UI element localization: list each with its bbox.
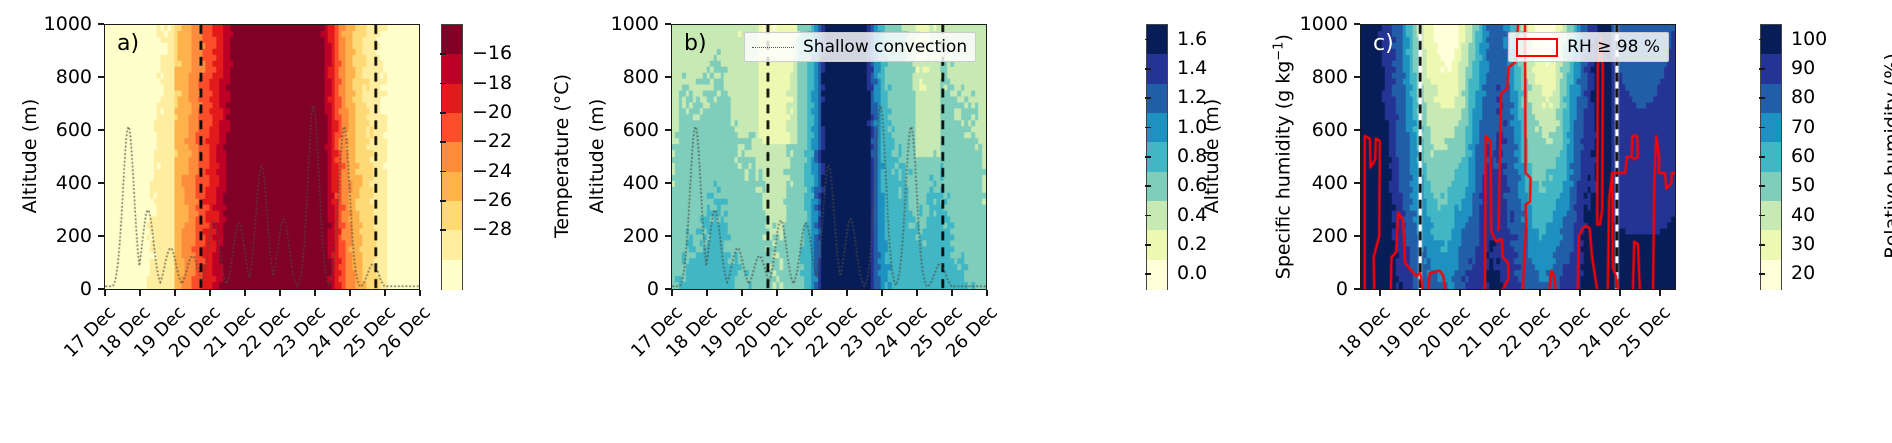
panel-b-xtickmark (706, 290, 708, 296)
colorbar-tickmark (440, 112, 446, 114)
panel-a-xtickmark (209, 290, 211, 296)
colorbar-segment (442, 201, 462, 231)
panel-a-colorbar-label: Temperature (°C) (551, 31, 573, 281)
panel-c-ytickmark (1354, 129, 1360, 131)
colorbar-tick-label: 50 (1791, 174, 1815, 196)
colorbar-tickmark (1145, 127, 1151, 129)
colorbar-segment (442, 172, 462, 202)
panel-a-xtickmark (314, 290, 316, 296)
panel-c-colorbar-label: Relative humidity (%) (1881, 0, 1892, 316)
panel-b-ytick-label: 200 (597, 225, 659, 247)
colorbar-tick-label: 80 (1791, 86, 1815, 108)
panel-c-xtickmark (1459, 290, 1461, 296)
colorbar-tick-label: −16 (472, 42, 512, 64)
colorbar-tickmark (1145, 156, 1151, 158)
colorbar-tick-label: −28 (472, 218, 512, 240)
colorbar-tick-label: 60 (1791, 145, 1815, 167)
panel-b-ytickmark (665, 23, 671, 25)
panel-c-ytick-label: 1000 (1286, 13, 1348, 35)
colorbar-tickmark (1145, 68, 1151, 70)
colorbar-tickmark (1759, 185, 1765, 187)
panel-b-ytick-label: 0 (597, 278, 659, 300)
panel-b-legend-label: Shallow convection (803, 37, 967, 57)
colorbar-tick-label: −26 (472, 189, 512, 211)
panel-b-axes: b) Shallow convection (671, 24, 987, 290)
panel-a-ytick-label: 600 (30, 119, 92, 141)
colorbar-tickmark (1759, 97, 1765, 99)
panel-b-ytickmark (665, 76, 671, 78)
colorbar-tickmark (1145, 215, 1151, 217)
panel-c-legend[interactable]: RH ≥ 98 % (1508, 32, 1669, 62)
panel-c-xtickmark (1379, 290, 1381, 296)
colorbar-tickmark (440, 171, 446, 173)
colorbar-segment (442, 113, 462, 143)
colorbar-segment (442, 54, 462, 84)
colorbar-tickmark (1759, 156, 1765, 158)
panel-a-xtickmark (244, 290, 246, 296)
colorbar-tickmark (1759, 127, 1765, 129)
panel-c-ytickmark (1354, 235, 1360, 237)
panel-b-xtickmark (846, 290, 848, 296)
panel-b-ylabel: Altitude (m) (586, 76, 608, 236)
panel-a-ytickmark (98, 76, 104, 78)
panel-b-colorbar-label-tail: ) (1273, 34, 1295, 41)
colorbar-tick-label: 40 (1791, 204, 1815, 226)
panel-b-ytickmark (665, 182, 671, 184)
panel-b-ytick-label: 800 (597, 66, 659, 88)
colorbar-tick-label: 70 (1791, 116, 1815, 138)
panel-a-letter: a) (117, 33, 139, 55)
panel-a-ytick-label: 200 (30, 225, 92, 247)
colorbar-tick-label: 30 (1791, 233, 1815, 255)
panel-b-plot-canvas (672, 25, 986, 289)
shallow-convection-line-icon (752, 47, 794, 48)
panel-c-xtickmark (1499, 290, 1501, 296)
panel-a-xtickmark (384, 290, 386, 296)
panel-b-xtickmark (951, 290, 953, 296)
panel-c-ytickmark (1354, 23, 1360, 25)
colorbar-tick-label: −24 (472, 160, 512, 182)
colorbar-tickmark (1759, 215, 1765, 217)
panel-c-letter: c) (1373, 33, 1394, 55)
panel-a-xtickmark (419, 290, 421, 296)
colorbar-tickmark (1759, 244, 1765, 246)
panel-c-ytickmark (1354, 288, 1360, 290)
colorbar-tickmark (440, 200, 446, 202)
panel-b-ytickmark (665, 235, 671, 237)
panel-c-ytick-label: 400 (1286, 172, 1348, 194)
panel-a-colorbar (441, 24, 463, 290)
panel-a-axes: a) (104, 24, 420, 290)
panel-b-colorbar-label: Specific humidity (g kg−1) (1271, 0, 1294, 322)
colorbar-tickmark (440, 229, 446, 231)
panel-a-xtickmark (279, 290, 281, 296)
colorbar-tick-label: 100 (1791, 28, 1827, 50)
colorbar-segment (442, 142, 462, 172)
colorbar-segment (442, 84, 462, 114)
panel-b-ytickmark (665, 129, 671, 131)
panel-b-xtickmark (811, 290, 813, 296)
colorbar-tickmark (1145, 273, 1151, 275)
panel-c-ytick-label: 600 (1286, 119, 1348, 141)
colorbar-tickmark (1145, 97, 1151, 99)
panel-c-xtickmark (1619, 290, 1621, 296)
colorbar-tick-label: 90 (1791, 57, 1815, 79)
panel-a-ytick-label: 400 (30, 172, 92, 194)
panel-c-xtickmark (1579, 290, 1581, 296)
panel-b-letter: b) (684, 33, 707, 55)
panel-c-xtickmark (1419, 290, 1421, 296)
panel-b-ytick-label: 400 (597, 172, 659, 194)
panel-a-ylabel: Altitude (m) (19, 76, 41, 236)
colorbar-tick-label: −20 (472, 101, 512, 123)
colorbar-tickmark (1759, 273, 1765, 275)
panel-c-ytickmark (1354, 76, 1360, 78)
colorbar-tick-label: −18 (472, 72, 512, 94)
panel-a-xtickmark (104, 290, 106, 296)
colorbar-tickmark (1145, 185, 1151, 187)
panel-a-xtickmark (174, 290, 176, 296)
colorbar-tickmark (1145, 244, 1151, 246)
colorbar-tick-label: 0.0 (1177, 262, 1207, 284)
figure-root: Altitude (m) a) 1000 800 600 400 200 0 1… (0, 0, 1892, 443)
panel-c-ytick-label: 800 (1286, 66, 1348, 88)
panel-b-xtickmark (916, 290, 918, 296)
colorbar-segment (442, 260, 462, 290)
colorbar-tickmark (1145, 39, 1151, 41)
panel-b-xtickmark (776, 290, 778, 296)
colorbar-tick-label: 0.2 (1177, 233, 1207, 255)
colorbar-tick-label: 20 (1791, 262, 1815, 284)
panel-c-xtickmark (1539, 290, 1541, 296)
panel-b-xtickmark (671, 290, 673, 296)
panel-b-ytick-label: 1000 (597, 13, 659, 35)
panel-a-ytickmark (98, 182, 104, 184)
colorbar-tick-label: 1.6 (1177, 28, 1207, 50)
panel-c-ytick-label: 0 (1286, 278, 1348, 300)
colorbar-tickmark (440, 83, 446, 85)
panel-a-ytickmark (98, 129, 104, 131)
panel-c-ytickmark (1354, 182, 1360, 184)
panel-b-legend[interactable]: Shallow convection (744, 32, 976, 62)
panel-b-xtickmark (986, 290, 988, 296)
panel-c-xtickmark (1659, 290, 1661, 296)
panel-a-xtickmark (349, 290, 351, 296)
panel-a-xtickmark (139, 290, 141, 296)
panel-a-ytickmark (98, 235, 104, 237)
panel-c-plot-canvas (1361, 25, 1675, 289)
colorbar-tickmark (440, 141, 446, 143)
panel-c-ylabel: Altitude (m) (1201, 76, 1223, 236)
panel-a-ytickmark (98, 23, 104, 25)
colorbar-tickmark (1759, 68, 1765, 70)
panel-a-ytick-label: 800 (30, 66, 92, 88)
colorbar-tickmark (1759, 39, 1765, 41)
panel-a-ytick-label: 1000 (30, 13, 92, 35)
panel-b-colorbar-label-exponent: −1 (1271, 42, 1286, 61)
panel-b-xtickmark (741, 290, 743, 296)
panel-b-ytick-label: 600 (597, 119, 659, 141)
panel-b-xtickmark (881, 290, 883, 296)
panel-a-plot-canvas (105, 25, 419, 289)
panel-c-ytick-label: 200 (1286, 225, 1348, 247)
panel-c-axes: c) RH ≥ 98 % (1360, 24, 1676, 290)
colorbar-tick-label: −22 (472, 130, 512, 152)
colorbar-tickmark (440, 53, 446, 55)
rh-threshold-rect-icon (1516, 38, 1558, 57)
colorbar-segment (442, 230, 462, 260)
panel-a-ytick-label: 0 (30, 278, 92, 300)
colorbar-segment (442, 25, 462, 55)
panel-c-legend-label: RH ≥ 98 % (1567, 37, 1660, 57)
